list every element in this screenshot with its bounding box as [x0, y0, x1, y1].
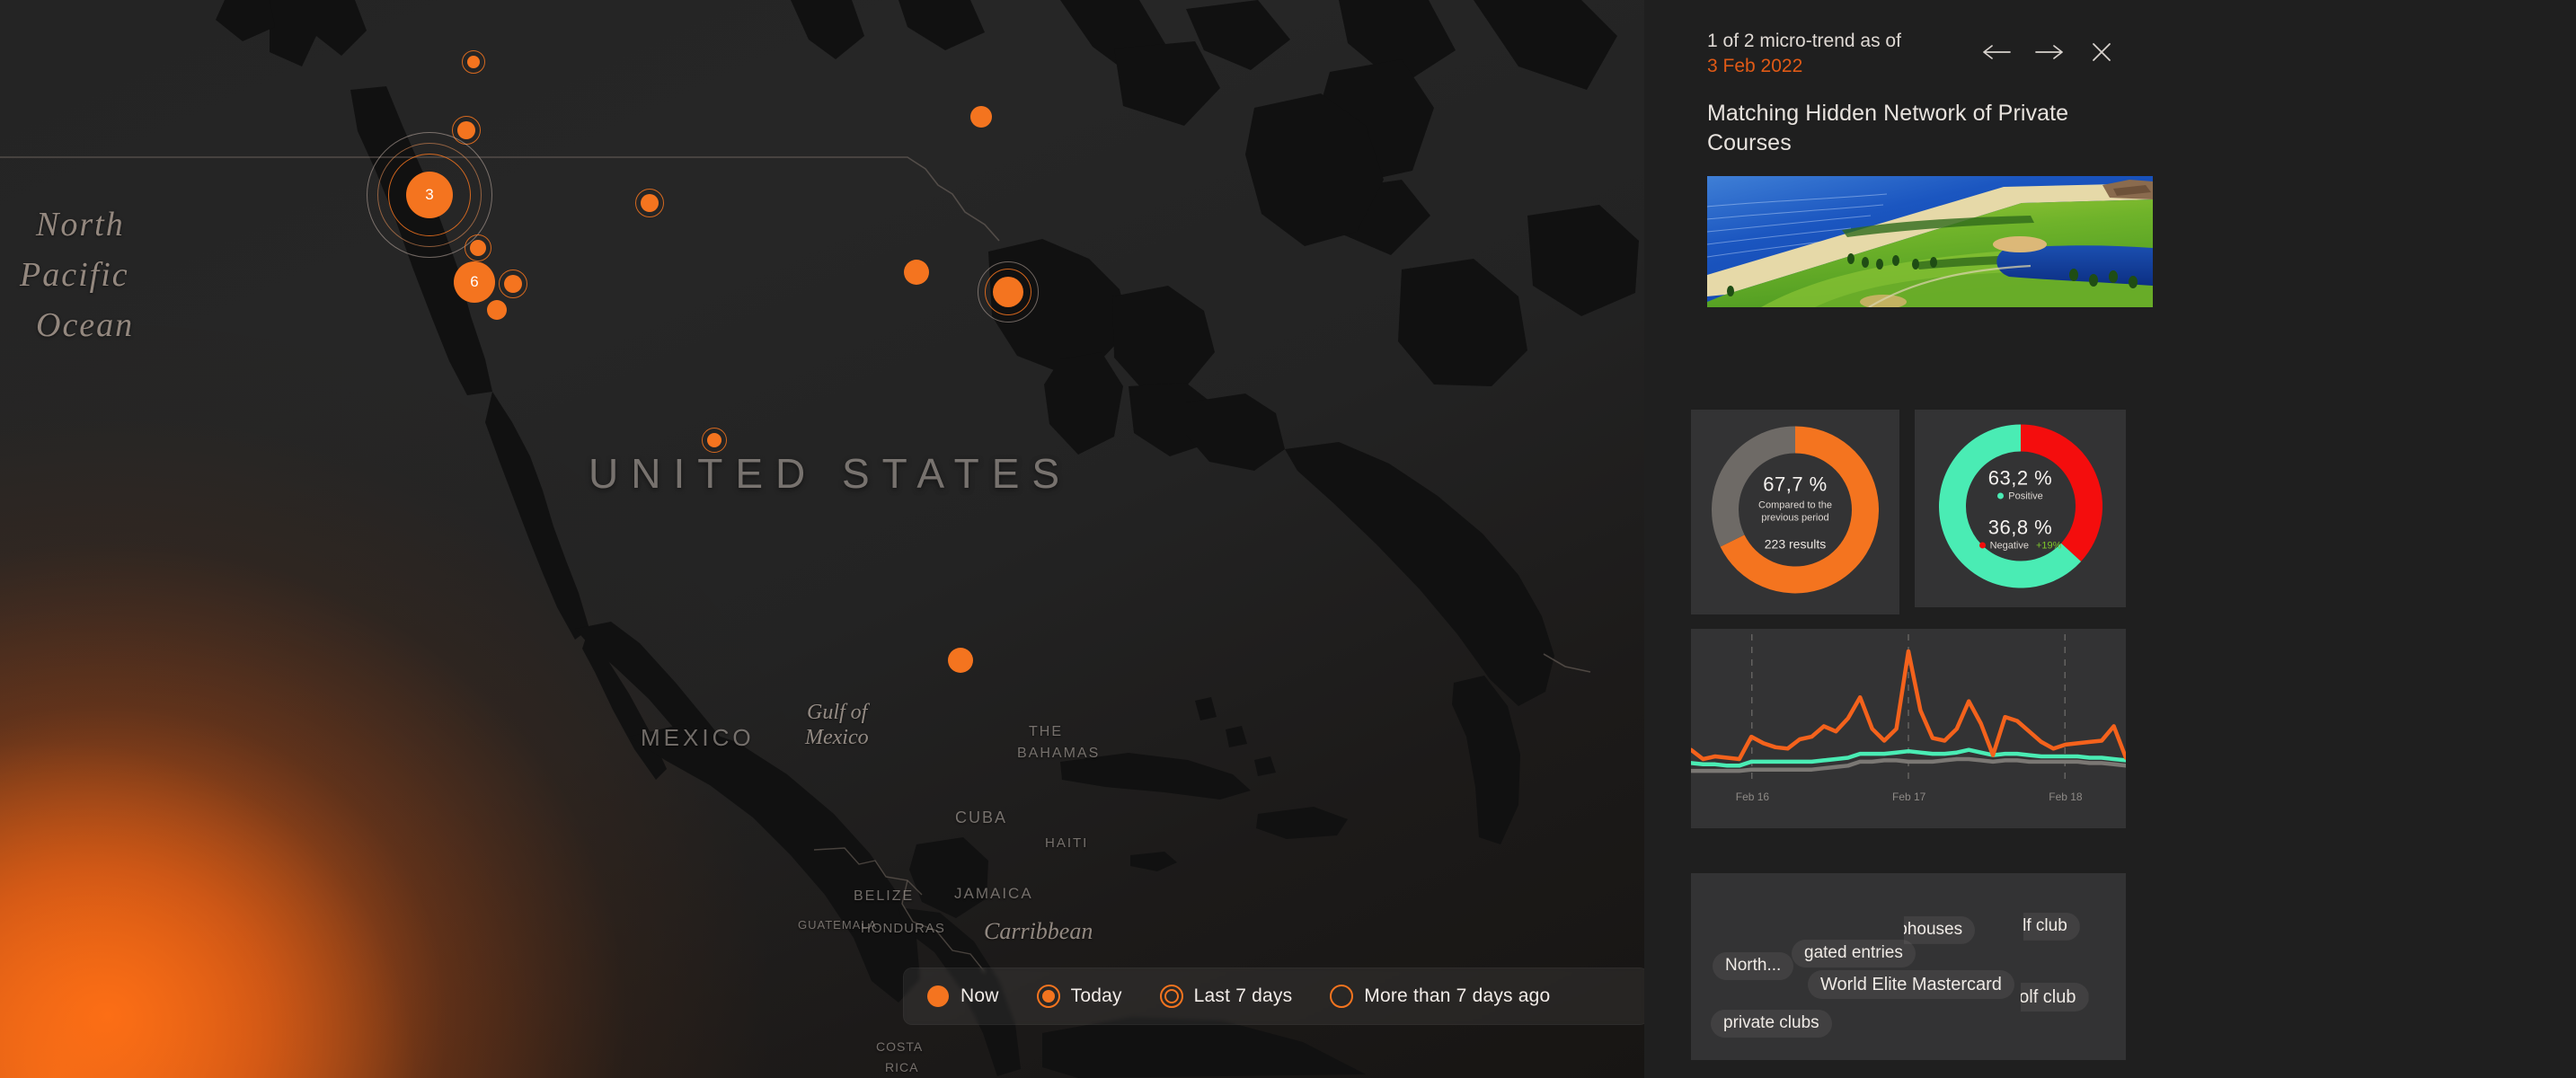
map-marker[interactable] — [702, 428, 727, 453]
panel-header-text: 1 of 2 micro-trend as of 3 Feb 2022 — [1707, 29, 1977, 80]
map-marker[interactable] — [635, 189, 664, 217]
legend-item-label: More than 7 days ago — [1364, 985, 1550, 1007]
arrow-left-icon[interactable] — [1982, 40, 2013, 65]
keyword-tag[interactable]: gated entries — [1792, 940, 1916, 968]
marker-dot — [993, 277, 1023, 307]
negative-bullet-icon — [1979, 543, 1986, 549]
compare-results-count: 223 results — [1732, 537, 1858, 552]
marker-dot — [470, 240, 486, 256]
country-label: COSTA — [876, 1039, 923, 1054]
country-label: HONDURAS — [861, 921, 945, 936]
ocean-label: Pacific — [20, 255, 129, 295]
country-label: JAMAICA — [954, 885, 1033, 903]
panel-header-actions — [1982, 40, 2117, 65]
marker-dot: 3 — [406, 172, 453, 218]
map-marker[interactable] — [978, 261, 1039, 323]
compare-period-card: 67,7 % Compared to the previous period 2… — [1691, 410, 1899, 614]
keyword-cloud[interactable]: clubhousesgolf clubgated entriesNorth...… — [1691, 873, 2126, 1060]
map-marker[interactable] — [499, 269, 527, 298]
sentiment-delta-badge: +19% — [2036, 540, 2061, 551]
compare-caption-line1: Compared to the — [1758, 499, 1832, 510]
marker-dot — [641, 194, 659, 212]
map-landmass — [0, 0, 1644, 1078]
legend-item-label: Now — [960, 985, 999, 1007]
country-label: BELIZE — [854, 888, 914, 905]
legend-item-outline-ring[interactable]: More than 7 days ago — [1330, 985, 1550, 1008]
x-axis-tick-label: Feb 18 — [2049, 791, 2082, 803]
compare-donut-center: 67,7 % Compared to the previous period 2… — [1732, 473, 1858, 552]
sentiment-positive-percent: 63,2 % — [1958, 466, 2084, 490]
filled-dot-icon — [926, 985, 950, 1008]
chart-series-mentions — [1691, 651, 2126, 759]
ocean-label: Ocean — [36, 305, 134, 345]
trend-counter-label: 1 of 2 micro-trend as of — [1707, 29, 1977, 54]
dot-in-ring-icon — [1037, 985, 1060, 1008]
compare-caption-line2: previous period — [1761, 513, 1828, 524]
map-marker[interactable] — [904, 260, 929, 285]
marker-dot — [467, 56, 480, 68]
marker-dot — [707, 433, 721, 447]
legend-item-double-ring[interactable]: Last 7 days — [1160, 985, 1293, 1008]
marker-dot — [504, 275, 522, 293]
country-label: Mexico — [805, 726, 869, 750]
x-axis-tick-label: Feb 17 — [1892, 791, 1925, 803]
country-label: Gulf of — [807, 701, 867, 725]
double-ring-icon — [1160, 985, 1183, 1008]
trend-detail-panel: 1 of 2 micro-trend as of 3 Feb 2022 — [1644, 0, 2576, 1078]
trend-title: Matching Hidden Network of Private Cours… — [1707, 99, 2085, 158]
map-time-legend[interactable]: NowTodayLast 7 daysMore than 7 days ago — [903, 968, 1644, 1025]
marker-dot: 6 — [454, 261, 495, 303]
sentiment-card: 63,2 % Positive 36,8 % Negative +19% — [1915, 410, 2126, 607]
map-marker[interactable] — [465, 234, 491, 261]
map-canvas[interactable]: NorthPacificOceanUNITED STATESMEXICOGulf… — [0, 0, 1644, 1078]
sentiment-donut-center: 63,2 % Positive 36,8 % Negative +19% — [1958, 466, 2084, 551]
close-icon[interactable] — [2086, 40, 2117, 65]
legend-item-dot-in-ring[interactable]: Today — [1037, 985, 1122, 1008]
legend-item-label: Last 7 days — [1194, 985, 1293, 1007]
country-label: THE — [1029, 724, 1063, 740]
compare-donut-chart: 67,7 % Compared to the previous period 2… — [1712, 427, 1879, 598]
ocean-label: North — [36, 205, 125, 244]
panel-header: 1 of 2 micro-trend as of 3 Feb 2022 — [1668, 0, 2153, 83]
keyword-tag[interactable]: North... — [1713, 952, 1793, 980]
country-label-main: UNITED STATES — [589, 449, 1072, 498]
keyword-cloud-card: clubhousesgolf clubgated entriesNorth...… — [1691, 873, 2126, 1060]
map-marker[interactable] — [487, 300, 507, 320]
trend-hero-image — [1707, 176, 2153, 307]
country-label: BAHAMAS — [1017, 746, 1100, 762]
sentiment-negative-label: Negative — [1990, 540, 2029, 551]
map-marker[interactable] — [948, 648, 973, 673]
keyword-tag[interactable]: private clubs — [1711, 1010, 1832, 1038]
country-label: CUBA — [955, 808, 1007, 827]
trend-date-label: 3 Feb 2022 — [1707, 54, 1977, 79]
sentiment-donut-chart: 63,2 % Positive 36,8 % Negative +19% — [1939, 425, 2102, 593]
country-label: RICA — [885, 1060, 918, 1074]
timeseries-card: Feb 16Feb 17Feb 18 — [1691, 629, 2126, 828]
x-axis-tick-label: Feb 16 — [1736, 791, 1769, 803]
positive-bullet-icon — [1997, 493, 2004, 499]
country-label: MEXICO — [641, 724, 755, 752]
marker-dot — [948, 648, 973, 673]
legend-item-label: Today — [1071, 985, 1122, 1007]
country-label: Carribbean — [984, 918, 1093, 945]
marker-dot — [970, 106, 992, 128]
marker-dot — [487, 300, 507, 320]
legend-item-filled-dot[interactable]: Now — [926, 985, 999, 1008]
map-marker-cluster[interactable]: 6 — [454, 261, 495, 303]
map-marker[interactable] — [970, 106, 992, 128]
keyword-tag[interactable]: golf club — [1991, 913, 2080, 941]
sentiment-negative-percent: 36,8 % — [1958, 516, 2084, 539]
keyword-tag[interactable]: World Elite Mastercard — [1808, 970, 2014, 999]
outline-ring-icon — [1330, 985, 1353, 1008]
sentiment-positive-label: Positive — [2008, 490, 2043, 501]
compare-percent: 67,7 % — [1732, 473, 1858, 496]
map-marker[interactable] — [462, 50, 485, 74]
country-label: HAITI — [1045, 835, 1088, 851]
arrow-right-icon[interactable] — [2034, 40, 2065, 65]
marker-dot — [904, 260, 929, 285]
app-root: NorthPacificOceanUNITED STATESMEXICOGulf… — [0, 0, 2576, 1078]
